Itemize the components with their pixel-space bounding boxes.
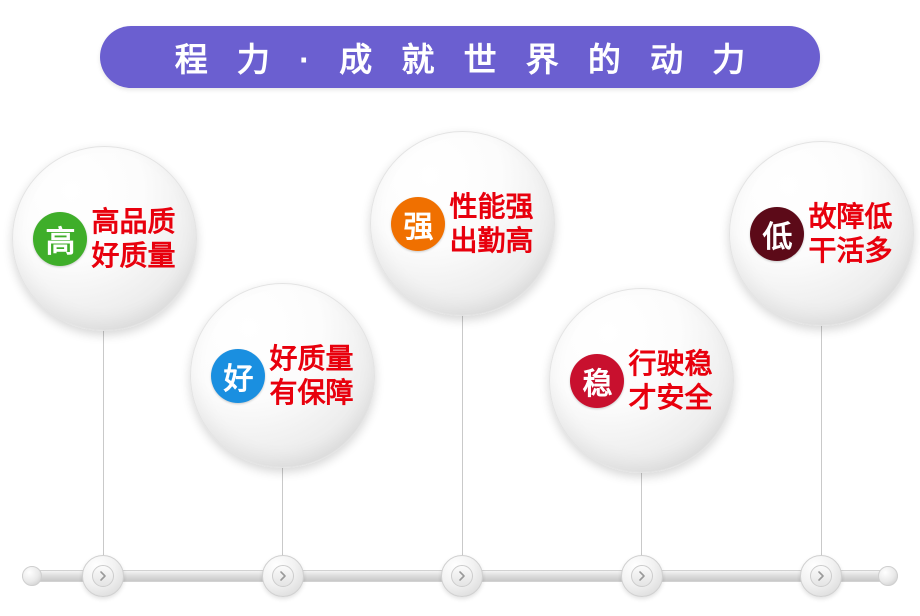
stem-5 (821, 325, 822, 566)
rail-cap-right (878, 566, 898, 586)
stem-2 (282, 465, 283, 566)
bubble-1[interactable]: 高 高品质 好质量 (12, 146, 197, 331)
chevron-right-icon (92, 565, 114, 587)
rail-node-5[interactable] (800, 555, 842, 597)
rail-cap-left (22, 566, 42, 586)
bubble-2[interactable]: 好 好质量 有保障 (190, 283, 375, 468)
rail-node-1[interactable] (82, 555, 124, 597)
bubble-5-text: 故障低 干活多 (808, 200, 892, 266)
rail-node-4[interactable] (621, 555, 663, 597)
banner-title: 程 力 · 成 就 世 界 的 动 力 (165, 33, 756, 81)
bubble-2-line-1: 好质量 (269, 342, 353, 375)
stem-4 (641, 470, 642, 566)
bubble-4-line-1: 行驶稳 (628, 347, 712, 380)
bubble-2-text: 好质量 有保障 (269, 342, 353, 408)
chevron-right-icon (810, 565, 832, 587)
bubble-3-badge: 强 (391, 197, 445, 251)
bubble-4-line-2: 才安全 (628, 381, 712, 414)
bubble-1-line-1: 高品质 (91, 205, 175, 238)
stem-1 (103, 330, 104, 566)
stem-3 (462, 315, 463, 566)
infographic-canvas: 程 力 · 成 就 世 界 的 动 力 高 高品质 好质量 好 好质量 有保障 … (0, 0, 920, 616)
bubble-3-text: 性能强 出勤高 (449, 190, 533, 256)
bubble-5[interactable]: 低 故障低 干活多 (729, 141, 914, 326)
bubble-5-line-1: 故障低 (808, 200, 892, 233)
bubble-4-text: 行驶稳 才安全 (628, 347, 712, 413)
chevron-right-icon (272, 565, 294, 587)
bubble-4[interactable]: 稳 行驶稳 才安全 (549, 288, 734, 473)
bubble-3[interactable]: 强 性能强 出勤高 (370, 131, 555, 316)
bubble-3-line-2: 出勤高 (449, 224, 533, 257)
bubble-1-badge: 高 (33, 212, 87, 266)
bubble-2-line-2: 有保障 (269, 376, 353, 409)
bubble-1-text: 高品质 好质量 (91, 205, 175, 271)
bubble-3-line-1: 性能强 (449, 190, 533, 223)
bubble-4-badge: 稳 (570, 354, 624, 408)
rail-node-3[interactable] (441, 555, 483, 597)
bubble-5-line-2: 干活多 (808, 234, 892, 267)
bubble-5-badge: 低 (750, 207, 804, 261)
rail-node-2[interactable] (262, 555, 304, 597)
chevron-right-icon (631, 565, 653, 587)
bubble-2-badge: 好 (211, 349, 265, 403)
header-banner: 程 力 · 成 就 世 界 的 动 力 (100, 26, 820, 88)
chevron-right-icon (451, 565, 473, 587)
bubble-1-line-2: 好质量 (91, 239, 175, 272)
